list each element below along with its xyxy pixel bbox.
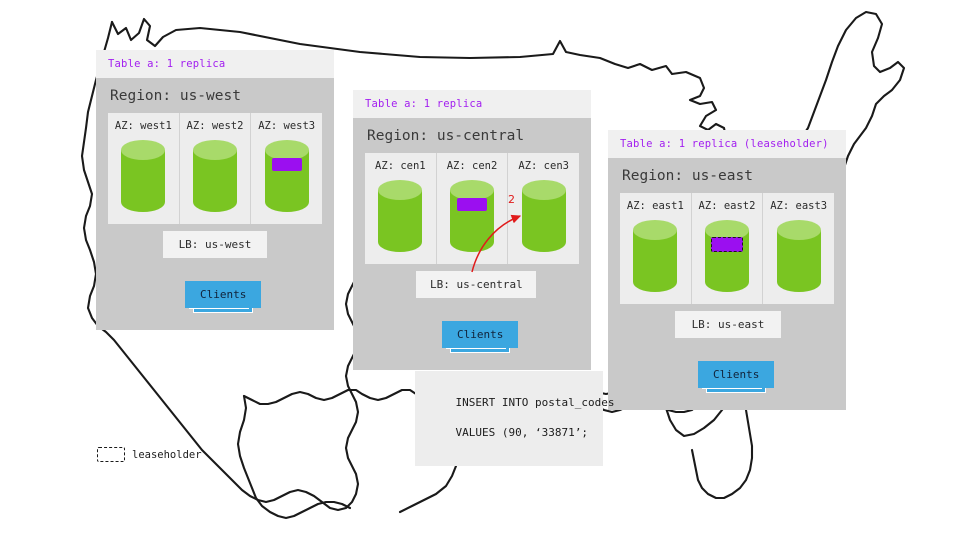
panel-header-us-west: Table a: 1 replica bbox=[96, 50, 334, 78]
panel-header-us-east: Table a: 1 replica (leaseholder) bbox=[608, 130, 846, 158]
sql-callout: INSERT INTO postal_codes VALUES (90, ‘33… bbox=[415, 371, 603, 466]
legend-leaseholder: leaseholder bbox=[97, 447, 202, 462]
load-balancer-us-central-label: LB: us-central bbox=[430, 278, 523, 291]
region-title-us-west: Region: us-west bbox=[108, 78, 322, 113]
diagram-canvas: Table a: 1 replica Region: us-west AZ: w… bbox=[0, 0, 960, 540]
replica-marker-east2-leaseholder[interactable] bbox=[711, 237, 743, 252]
az-cell-east3[interactable]: AZ: east3 bbox=[762, 193, 834, 304]
region-title-us-central: Region: us-central bbox=[365, 118, 579, 153]
az-label-cen1: AZ: cen1 bbox=[375, 160, 426, 172]
load-balancer-us-west[interactable]: LB: us-west bbox=[163, 231, 267, 258]
load-balancer-us-east-label: LB: us-east bbox=[692, 318, 765, 331]
node-cylinder-west2[interactable] bbox=[191, 138, 239, 214]
az-cell-cen3[interactable]: AZ: cen3 bbox=[507, 153, 579, 264]
node-cylinder-west1[interactable] bbox=[119, 138, 167, 214]
az-label-cen3: AZ: cen3 bbox=[518, 160, 569, 172]
az-cell-east1[interactable]: AZ: east1 bbox=[620, 193, 691, 304]
clients-us-east[interactable]: Clients bbox=[698, 361, 774, 388]
load-balancer-us-east[interactable]: LB: us-east bbox=[675, 311, 781, 338]
panel-body-us-central: Region: us-central AZ: cen1 AZ: cen2 bbox=[353, 118, 591, 264]
az-label-west1: AZ: west1 bbox=[115, 120, 172, 132]
az-label-west3: AZ: west3 bbox=[258, 120, 315, 132]
region-title-us-east: Region: us-east bbox=[620, 158, 834, 193]
panel-body-us-east: Region: us-east AZ: east1 AZ: east2 bbox=[608, 158, 846, 304]
panel-body-us-west: Region: us-west AZ: west1 AZ: west2 bbox=[96, 78, 334, 224]
node-cylinder-cen1[interactable] bbox=[376, 178, 424, 254]
node-cylinder-west3[interactable] bbox=[263, 138, 311, 214]
replica-marker-west3[interactable] bbox=[272, 158, 302, 171]
az-row-us-west: AZ: west1 AZ: west2 bbox=[108, 113, 322, 224]
clients-us-central-button[interactable]: Clients bbox=[442, 321, 518, 348]
az-cell-west2[interactable]: AZ: west2 bbox=[179, 113, 251, 224]
replica-marker-cen2[interactable] bbox=[457, 198, 487, 211]
clients-us-west-button[interactable]: Clients bbox=[185, 281, 261, 308]
az-row-us-central: AZ: cen1 AZ: cen2 bbox=[365, 153, 579, 264]
az-label-east2: AZ: east2 bbox=[699, 200, 756, 212]
az-cell-west3[interactable]: AZ: west3 bbox=[250, 113, 322, 224]
az-label-east1: AZ: east1 bbox=[627, 200, 684, 212]
clients-us-east-button[interactable]: Clients bbox=[698, 361, 774, 388]
load-balancer-us-west-label: LB: us-west bbox=[179, 238, 252, 251]
load-balancer-us-central[interactable]: LB: us-central bbox=[416, 271, 536, 298]
az-cell-cen2[interactable]: AZ: cen2 bbox=[436, 153, 508, 264]
sql-line-1: INSERT INTO postal_codes bbox=[456, 396, 615, 409]
legend-leaseholder-label: leaseholder bbox=[132, 449, 202, 461]
az-label-east3: AZ: east3 bbox=[770, 200, 827, 212]
az-cell-cen1[interactable]: AZ: cen1 bbox=[365, 153, 436, 264]
node-cylinder-east2[interactable] bbox=[703, 218, 751, 294]
node-cylinder-east3[interactable] bbox=[775, 218, 823, 294]
node-cylinder-east1[interactable] bbox=[631, 218, 679, 294]
sql-line-2: VALUES (90, ‘33871’; bbox=[456, 426, 588, 439]
az-cell-west1[interactable]: AZ: west1 bbox=[108, 113, 179, 224]
node-cylinder-cen2[interactable] bbox=[448, 178, 496, 254]
step-2-label: 2 bbox=[508, 193, 515, 206]
clients-us-west[interactable]: Clients bbox=[185, 281, 261, 308]
clients-us-central[interactable]: Clients bbox=[442, 321, 518, 348]
az-cell-east2[interactable]: AZ: east2 bbox=[691, 193, 763, 304]
az-label-west2: AZ: west2 bbox=[187, 120, 244, 132]
az-row-us-east: AZ: east1 AZ: east2 bbox=[620, 193, 834, 304]
node-cylinder-cen3[interactable] bbox=[520, 178, 568, 254]
az-label-cen2: AZ: cen2 bbox=[447, 160, 498, 172]
leaseholder-swatch-icon bbox=[97, 447, 125, 462]
panel-header-us-central: Table a: 1 replica bbox=[353, 90, 591, 118]
